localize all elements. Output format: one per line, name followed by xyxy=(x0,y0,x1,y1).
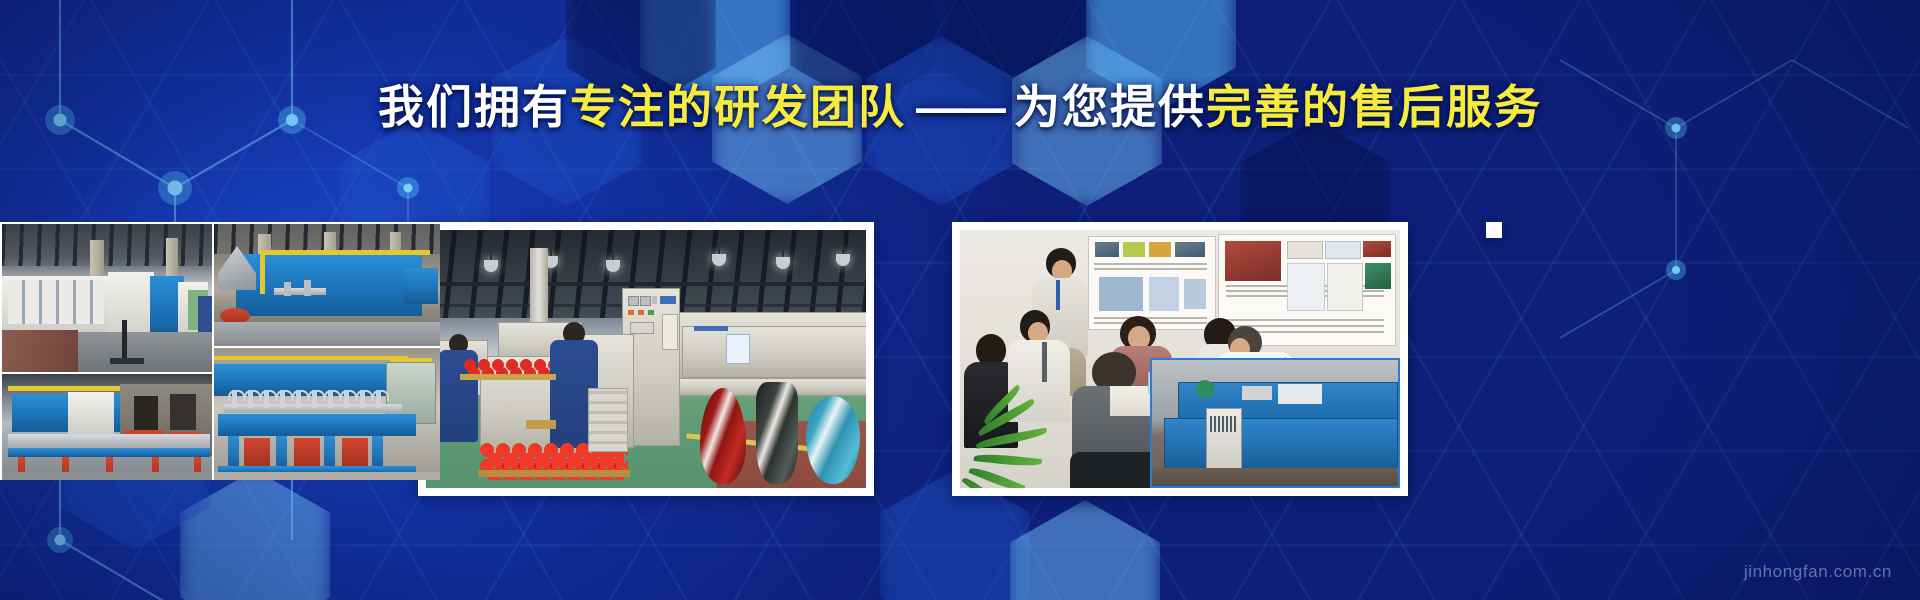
site-watermark: jinhongfan.com.cn xyxy=(1744,562,1892,582)
collage-cell-4 xyxy=(212,346,440,480)
photo-equipment-collage xyxy=(0,222,440,480)
promo-banner: 我们拥有专注的研发团队——为您提供完善的售后服务 xyxy=(0,0,1920,600)
photo-frame-technical-meeting[interactable] xyxy=(952,222,1408,496)
headline-part-1: 我们拥有 xyxy=(378,81,570,133)
photo-gallery xyxy=(0,222,1920,508)
headline-part-4-highlight: 完善的售后服务 xyxy=(1206,81,1542,133)
photo-production-line xyxy=(426,230,866,488)
collage-cell-2 xyxy=(0,372,216,480)
headline-part-2-highlight: 专注的研发团队 xyxy=(570,81,906,133)
headline-part-3: 为您提供 xyxy=(1014,81,1206,133)
page-title: 我们拥有专注的研发团队——为您提供完善的售后服务 xyxy=(0,84,1920,130)
photo-technical-meeting xyxy=(960,230,1400,488)
photo-frame-equipment-collage[interactable] xyxy=(1486,222,1502,238)
collage-cell-3 xyxy=(212,222,440,350)
headline-dash: —— xyxy=(906,81,1014,133)
photo-inset-machinery xyxy=(1150,358,1400,488)
collage-cell-1 xyxy=(0,222,216,376)
photo-frame-production-line[interactable] xyxy=(418,222,874,496)
